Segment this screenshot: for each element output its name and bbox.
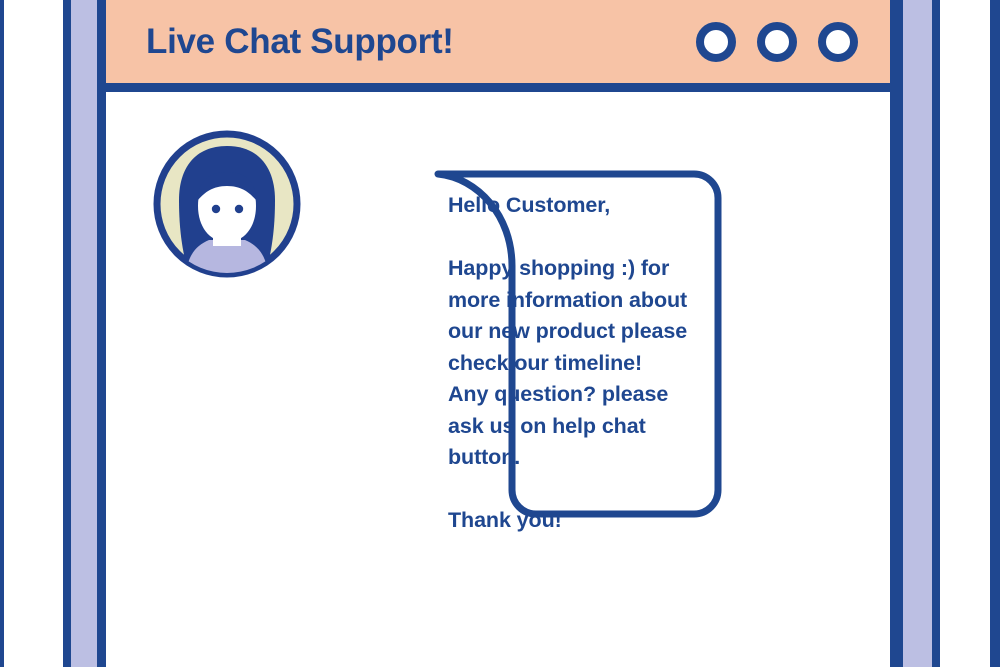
close-button-icon[interactable] [818, 22, 858, 62]
maximize-button-icon[interactable] [757, 22, 797, 62]
window-titlebar: Live Chat Support! [106, 0, 890, 92]
frame-strip-right [895, 0, 940, 667]
frame-edge-line-left [0, 0, 4, 667]
chat-message-bubble: Hello Customer, Happy shopping :) for mo… [338, 170, 722, 522]
chat-message-text: Hello Customer, Happy shopping :) for mo… [448, 190, 698, 537]
page-title: Live Chat Support! [146, 22, 454, 62]
avatar-person-icon [151, 128, 303, 280]
frame-edge-line-right [990, 0, 1000, 667]
minimize-button-icon[interactable] [696, 22, 736, 62]
chat-message-area: Hello Customer, Happy shopping :) for mo… [106, 92, 890, 667]
screenshot-stage: Live Chat Support! [0, 0, 1000, 667]
chat-window: Live Chat Support! [98, 0, 898, 667]
avatar [151, 128, 303, 280]
window-controls [696, 22, 858, 62]
